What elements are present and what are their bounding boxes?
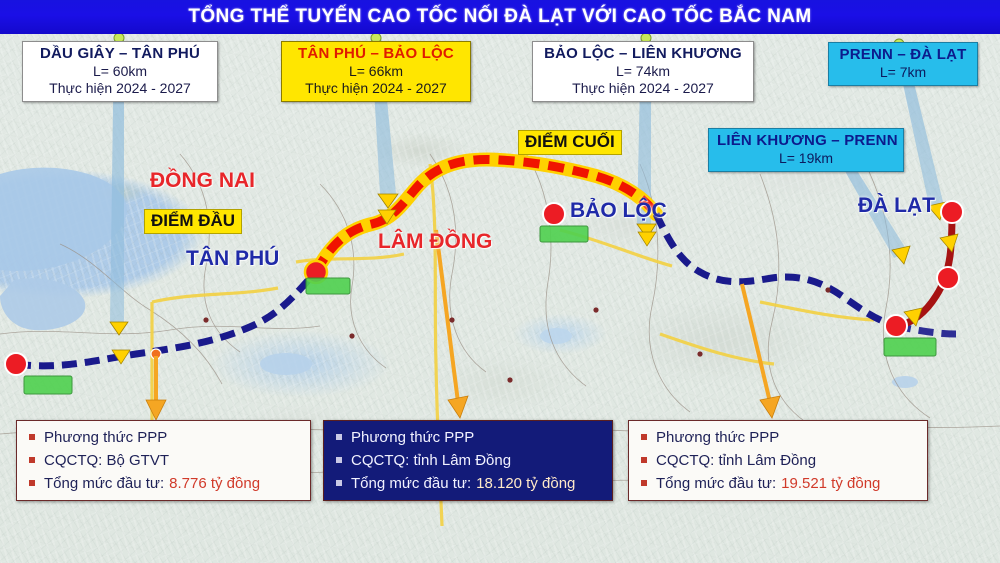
map-label-da-lat: ĐÀ LẠT: [858, 194, 935, 218]
segment-period: Thực hiện 2024 - 2027: [541, 80, 745, 97]
segment-name: BẢO LỘC – LIÊN KHƯƠNG: [541, 45, 745, 63]
segment-length: L= 66km: [290, 63, 462, 80]
map-label-diem-dau: ĐIỂM ĐẦU: [144, 209, 242, 234]
callout-bao-loc-lien-khuong[interactable]: BẢO LỘC – LIÊN KHƯƠNG L= 74km Thực hiện …: [532, 41, 754, 102]
info-row-label: Phương thức PPP: [351, 429, 474, 446]
segment-length: L= 74km: [541, 63, 745, 80]
segment-period: Thực hiện 2024 - 2027: [290, 80, 462, 97]
info-list: Phương thức PPP CQCTQ: tỉnh Lâm Đồng Tổn…: [336, 429, 602, 492]
bullet-square-icon: [336, 480, 342, 486]
connector-arrow-dau-giay: [110, 322, 128, 335]
bullet-square-icon: [336, 434, 342, 440]
map-label-dong-nai: ĐỒNG NAI: [150, 169, 255, 193]
node-dau-giay: [5, 353, 27, 375]
info-row-label: CQCTQ: Bộ GTVT: [44, 452, 169, 469]
segment-length: L= 7km: [837, 64, 969, 81]
info-box-dau-giay-tan-phu[interactable]: Phương thức PPP CQCTQ: Bộ GTVT Tổng mức …: [16, 420, 311, 501]
info-row: Tổng mức đầu tư: 18.120 tỷ đồng: [336, 475, 602, 492]
bullet-square-icon: [641, 434, 647, 440]
map-label-diem-cuoi: ĐIỂM CUỐI: [518, 130, 622, 155]
bullet-square-icon: [29, 434, 35, 440]
node-prenn: [937, 267, 959, 289]
info-row-label: Phương thức PPP: [656, 429, 779, 446]
info-row: CQCTQ: tỉnh Lâm Đồng: [641, 452, 917, 469]
info-row: Phương thức PPP: [336, 429, 602, 446]
node-bao-loc: [543, 203, 565, 225]
segment-name: PRENN – ĐÀ LẠT: [837, 46, 969, 64]
info-row-label: CQCTQ: tỉnh Lâm Đồng: [351, 452, 511, 469]
segment-name: TÂN PHÚ – BẢO LỘC: [290, 45, 462, 63]
info-row: Tổng mức đầu tư: 8.776 tỷ đồng: [29, 475, 300, 492]
info-row: CQCTQ: Bộ GTVT: [29, 452, 300, 469]
info-row-label: Tổng mức đầu tư:: [656, 475, 776, 492]
info-list: Phương thức PPP CQCTQ: tỉnh Lâm Đồng Tổn…: [641, 429, 917, 492]
info-row-amount: 8.776 tỷ đồng: [169, 475, 260, 492]
info-row: CQCTQ: tỉnh Lâm Đồng: [336, 452, 602, 469]
bullet-square-icon: [29, 480, 35, 486]
info-row: Phương thức PPP: [29, 429, 300, 446]
info-box-bao-loc-lien-khuong[interactable]: Phương thức PPP CQCTQ: tỉnh Lâm Đồng Tổn…: [628, 420, 928, 501]
segment-length: L= 19km: [717, 150, 895, 167]
page-title: TỔNG THỂ TUYẾN CAO TỐC NỐI ĐÀ LẠT VỚI CA…: [188, 6, 811, 28]
segment-name: LIÊN KHƯƠNG – PRENN: [717, 132, 895, 150]
callout-tan-phu-bao-loc[interactable]: TÂN PHÚ – BẢO LỘC L= 66km Thực hiện 2024…: [281, 41, 471, 102]
segment-period: Thực hiện 2024 - 2027: [31, 80, 209, 97]
info-row: Tổng mức đầu tư: 19.521 tỷ đồng: [641, 475, 917, 492]
bullet-square-icon: [641, 457, 647, 463]
info-box-tan-phu-bao-loc[interactable]: Phương thức PPP CQCTQ: tỉnh Lâm Đồng Tổn…: [323, 420, 613, 501]
callout-prenn-da-lat[interactable]: PRENN – ĐÀ LẠT L= 7km: [828, 42, 978, 86]
info-row-amount: 18.120 tỷ đồng: [476, 475, 575, 492]
node-lien-khuong: [885, 315, 907, 337]
bullet-square-icon: [641, 480, 647, 486]
node-da-lat: [941, 201, 963, 223]
info-row-label: CQCTQ: tỉnh Lâm Đồng: [656, 452, 816, 469]
bullet-square-icon: [336, 457, 342, 463]
info-row-label: Phương thức PPP: [44, 429, 167, 446]
info-row-label: Tổng mức đầu tư:: [44, 475, 164, 492]
segment-name: DẦU GIÂY – TÂN PHÚ: [31, 45, 209, 63]
map-label-bao-loc: BẢO LỘC: [570, 199, 667, 223]
info-row-amount: 19.521 tỷ đồng: [781, 475, 880, 492]
callout-dau-giay-tan-phu[interactable]: DẦU GIÂY – TÂN PHÚ L= 60km Thực hiện 202…: [22, 41, 218, 102]
info-row-label: Tổng mức đầu tư:: [351, 475, 471, 492]
callout-lien-khuong-prenn[interactable]: LIÊN KHƯƠNG – PRENN L= 19km: [708, 128, 904, 172]
map-label-lam-dong: LÂM ĐỒNG: [378, 230, 492, 254]
info-row: Phương thức PPP: [641, 429, 917, 446]
map-label-tan-phu: TÂN PHÚ: [186, 247, 279, 271]
infographic-root: TỔNG THỂ TUYẾN CAO TỐC NỐI ĐÀ LẠT VỚI CA…: [0, 0, 1000, 563]
bullet-square-icon: [29, 457, 35, 463]
segment-length: L= 60km: [31, 63, 209, 80]
title-bar: TỔNG THỂ TUYẾN CAO TỐC NỐI ĐÀ LẠT VỚI CA…: [0, 0, 1000, 34]
info-list: Phương thức PPP CQCTQ: Bộ GTVT Tổng mức …: [29, 429, 300, 492]
